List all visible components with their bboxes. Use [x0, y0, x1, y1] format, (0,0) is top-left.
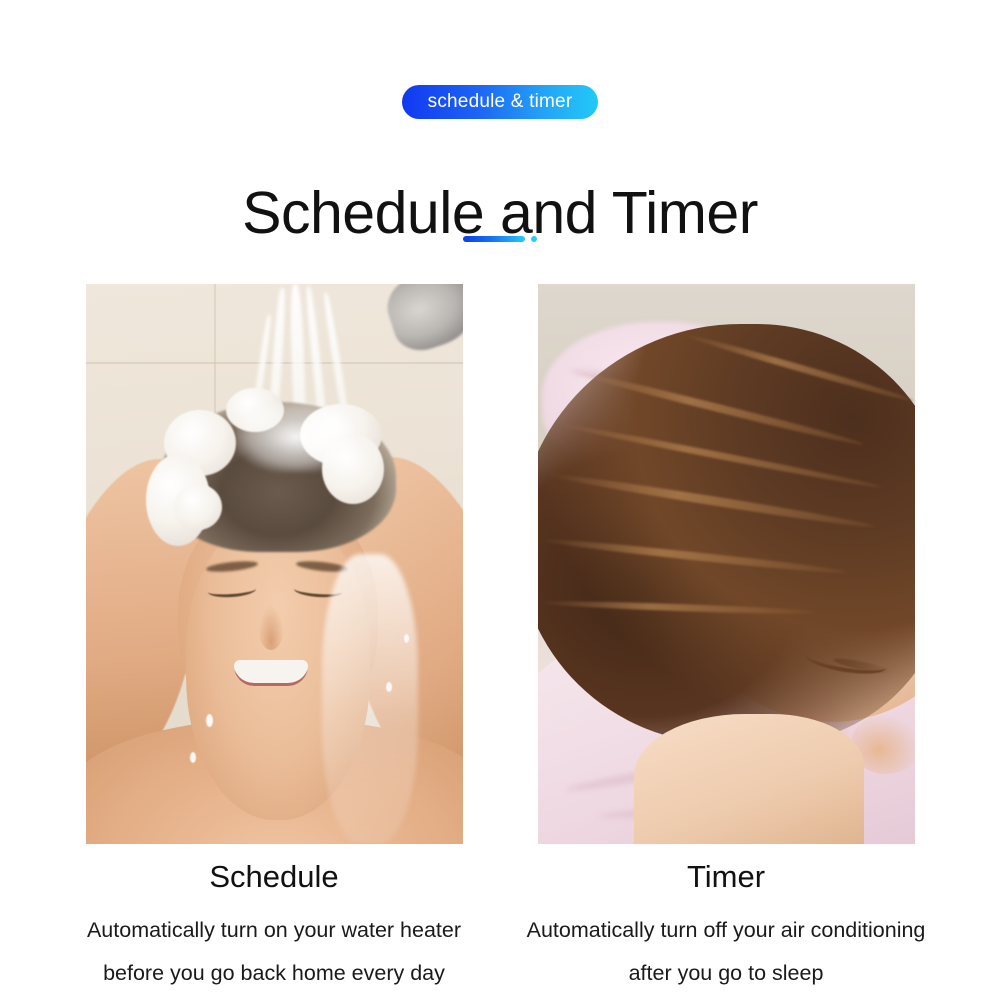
feature-card-schedule: Schedule Automatically turn on your wate…: [86, 284, 463, 995]
divider-bar: [463, 236, 525, 242]
card-description-line-2: after you go to sleep: [527, 952, 926, 995]
feature-card-timer: Timer Automatically turn off your air co…: [538, 284, 915, 995]
nose-shape: [258, 606, 284, 650]
shower-photo: [86, 284, 463, 844]
showerhead-icon: [379, 284, 462, 358]
schedule-timer-badge: schedule & timer: [402, 85, 599, 119]
water-splash-icon: [236, 402, 356, 472]
foam-blob-icon: [174, 484, 222, 530]
droplet-icon: [190, 752, 196, 763]
droplet-icon: [206, 714, 213, 727]
feature-cards: Schedule Automatically turn on your wate…: [0, 284, 1000, 995]
falling-water-shape: [322, 554, 418, 844]
arm-shape: [634, 714, 864, 844]
mouth-shape: [234, 660, 308, 686]
droplet-icon: [404, 634, 409, 643]
card-description-line-2: before you go back home every day: [87, 952, 461, 995]
badge-row: schedule & timer: [0, 85, 1000, 119]
droplet-icon: [386, 682, 392, 692]
sleeping-photo: [538, 284, 915, 844]
card-title-timer: Timer: [687, 858, 765, 895]
card-description-timer: Automatically turn off your air conditio…: [527, 909, 926, 995]
title-divider: [0, 236, 1000, 242]
card-description-line-1: Automatically turn off your air conditio…: [527, 909, 926, 952]
card-description-schedule: Automatically turn on your water heater …: [87, 909, 461, 995]
divider-dot-icon: [531, 236, 537, 242]
card-description-line-1: Automatically turn on your water heater: [87, 909, 461, 952]
card-title-schedule: Schedule: [209, 858, 338, 895]
